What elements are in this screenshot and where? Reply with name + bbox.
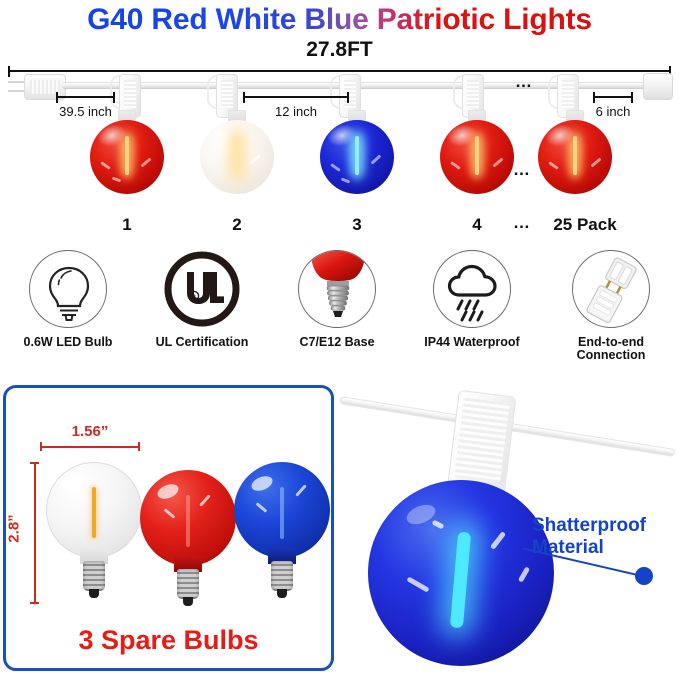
spare-bulb-base [177, 569, 199, 599]
spare-bulb-filament [280, 487, 284, 539]
spare-bulb-base [271, 561, 293, 591]
spare-bulb-base [83, 561, 105, 591]
bulb-base-icon [298, 250, 376, 328]
spare-bulb-glass [140, 470, 236, 566]
dimension-cap-bottom [30, 602, 39, 604]
bulb-number-1: 1 [90, 215, 164, 235]
spare-width-label: 1.56” [40, 423, 140, 440]
bulb-number-ellipsis: … [513, 213, 531, 233]
dimension-line [34, 462, 36, 604]
dimension-line [56, 96, 115, 98]
bulb-number-3: 3 [320, 215, 394, 235]
spare-bulb-tip [183, 597, 193, 606]
spare-bulb-glass [46, 462, 142, 558]
segment-label-lead: 39.5 inch [59, 104, 112, 119]
rain-cloud-icon [433, 250, 511, 328]
bulb-row-ellipsis: … [513, 160, 531, 180]
bulb-streak [199, 494, 211, 506]
bulb-number-2: 2 [200, 215, 274, 235]
dimension-cap-right [113, 92, 115, 103]
spare-bulb-filament [92, 487, 96, 538]
shatterproof-line-2: Material [532, 537, 677, 559]
bulb-sheen [250, 474, 275, 494]
string-end-cap [643, 73, 673, 100]
dimension-line [593, 96, 633, 98]
dimension-cap-right [138, 442, 140, 451]
svg-text:R: R [192, 294, 197, 301]
spare-bulb-tip [89, 589, 99, 598]
spare-bulb-tip [277, 589, 287, 598]
bulb-streak [141, 157, 152, 167]
bulb-streak [100, 162, 111, 171]
feature-label-ul: UL Certification [142, 336, 262, 349]
segment-dimension-spacing: 12 inch [243, 92, 349, 103]
shatterproof-blue-bulb [368, 480, 554, 666]
bulb-streak [548, 162, 559, 171]
dimension-cap-left [593, 92, 595, 103]
dimension-cap-left [243, 92, 245, 103]
spare-height-dimension [30, 462, 39, 604]
feature-label-waterproof: IP44 Waterproof [412, 336, 532, 349]
bulb-filament [475, 136, 479, 174]
bulb-filament [235, 136, 239, 174]
bulb-filament [450, 532, 471, 629]
dimension-cap-left [40, 442, 42, 451]
bulb-streak [432, 519, 445, 529]
bulb-sheen [156, 482, 181, 502]
bulb-streak [295, 484, 307, 496]
shatterproof-label: Shatterproof Material [532, 515, 677, 559]
bulb-number-pack: 25 Pack [538, 215, 632, 235]
spare-bulb-glass [234, 462, 330, 558]
bulb-streak [164, 508, 176, 519]
bulb-sheen [60, 472, 90, 497]
page-title: G40 Red White Blue Patriotic Lights [0, 2, 679, 38]
bulb-streak [590, 157, 601, 167]
bulb-glass [200, 120, 274, 194]
dimension-line [243, 96, 349, 98]
bulb-filament [125, 136, 129, 174]
segment-dimension-lead: 39.5 inch [56, 92, 115, 103]
total-length-label: 27.8FT [0, 38, 679, 62]
led-bulb-icon [29, 250, 107, 328]
bulb-streak [492, 157, 503, 167]
bulb-streak [256, 502, 268, 513]
feature-label-base: C7/E12 Base [277, 336, 397, 349]
bulb-number-4: 4 [440, 215, 514, 235]
ul-certification-icon: R [163, 250, 241, 328]
segment-dimension-tail: 6 inch [593, 92, 633, 103]
bulb-glass [538, 120, 612, 194]
segment-label-tail: 6 inch [596, 104, 631, 119]
dimension-cap-right [347, 92, 349, 103]
callout-dot [635, 567, 653, 585]
bulb-streak [371, 155, 382, 165]
bulb-streak [330, 163, 341, 172]
bulb-streak [406, 576, 429, 592]
bulb-streak [490, 531, 506, 550]
bulb-glass [320, 120, 394, 194]
bulb-streak [518, 566, 530, 582]
bulb-glass [90, 120, 164, 194]
detail-wire-right [507, 423, 675, 457]
spare-bulbs-title: 3 Spare Bulbs [6, 625, 331, 656]
dimension-cap-top [30, 462, 39, 464]
feature-label-end-to-end: End-to-end Connection [551, 336, 671, 362]
bulb-streak [450, 162, 461, 171]
spare-width-dimension [40, 442, 140, 451]
bulb-streak [249, 155, 260, 165]
detail-wire-left [339, 396, 459, 423]
dimension-line [8, 70, 671, 72]
dimension-cap-right [631, 92, 633, 103]
string-ellipsis-wire: … [515, 72, 533, 92]
shatterproof-line-1: Shatterproof [532, 515, 677, 537]
bulb-filament [355, 136, 359, 174]
connector-icon [572, 250, 650, 328]
bulb-glass [440, 120, 514, 194]
spare-bulb-filament [186, 495, 190, 547]
dimension-cap-left [56, 92, 58, 103]
feature-label-led-bulb: 0.6W LED Bulb [8, 336, 128, 349]
bulb-filament [573, 136, 577, 174]
bulb-streak [112, 176, 121, 182]
bulb-streak [340, 178, 349, 184]
spare-height-label: 2.8” [6, 504, 23, 554]
segment-label-spacing: 12 inch [275, 104, 317, 119]
dimension-line [40, 446, 140, 448]
